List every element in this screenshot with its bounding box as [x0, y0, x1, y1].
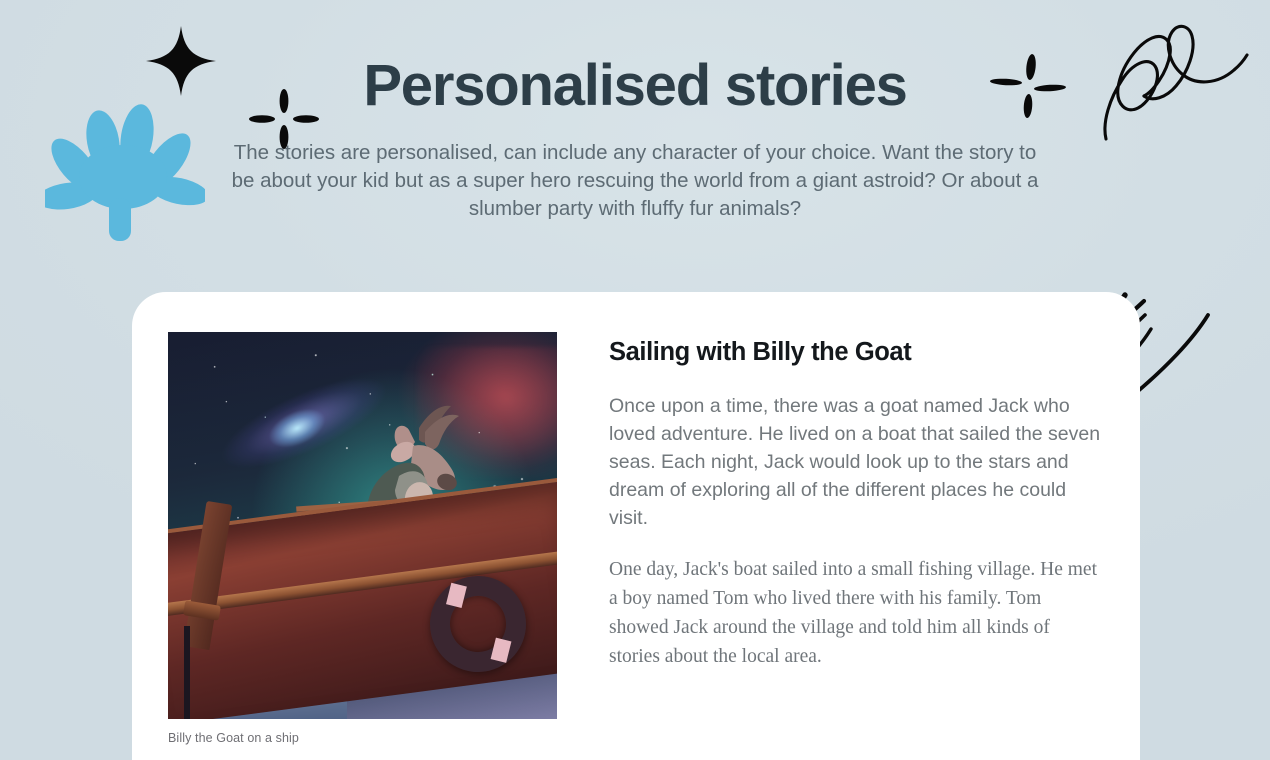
story-card-content: Billy the Goat on a ship Sailing with Bi… [132, 292, 1140, 745]
story-media: Billy the Goat on a ship [168, 332, 557, 745]
story-paragraph-1: Once upon a time, there was a goat named… [609, 392, 1104, 532]
image-caption: Billy the Goat on a ship [168, 731, 557, 745]
page-header: Personalised stories The stories are per… [0, 0, 1270, 224]
page-subtitle: The stories are personalised, can includ… [225, 139, 1045, 224]
poster-page: Personalised stories The stories are per… [0, 0, 1270, 760]
dock-pole [184, 626, 190, 719]
story-paragraph-2: One day, Jack's boat sailed into a small… [609, 556, 1104, 671]
page-title: Personalised stories [0, 56, 1270, 117]
story-title: Sailing with Billy the Goat [609, 338, 1104, 367]
story-image[interactable] [168, 332, 557, 719]
story-card: Billy the Goat on a ship Sailing with Bi… [132, 292, 1140, 760]
story-text: Sailing with Billy the Goat Once upon a … [609, 332, 1104, 745]
